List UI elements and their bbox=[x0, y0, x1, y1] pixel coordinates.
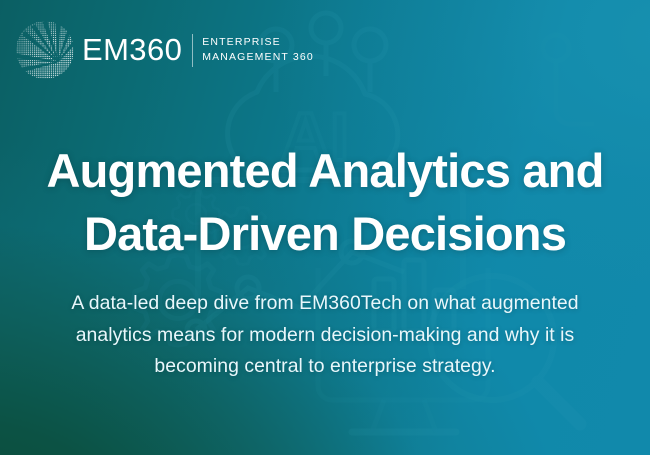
node-accent-icon bbox=[543, 35, 594, 124]
em360-logo[interactable]: EM360 ENTERPRISE MANAGEMENT 360 bbox=[13, 16, 314, 84]
promo-card: AI bbox=[0, 0, 650, 455]
logo-tagline: ENTERPRISE MANAGEMENT 360 bbox=[202, 35, 314, 65]
logo-divider bbox=[192, 34, 193, 67]
logo-tagline-line2: MANAGEMENT 360 bbox=[202, 50, 314, 65]
logo-tagline-line1: ENTERPRISE bbox=[202, 35, 314, 50]
page-title-line2: Data-Driven Decisions bbox=[14, 203, 636, 266]
em360-fan-logo-icon bbox=[13, 18, 77, 82]
page-title-line1: Augmented Analytics and bbox=[46, 144, 603, 197]
logo-wordmark: EM360 bbox=[82, 34, 182, 67]
page-subtitle: A data-led deep dive from EM360Tech on w… bbox=[47, 288, 603, 383]
page-title: Augmented Analytics and Data-Driven Deci… bbox=[0, 140, 650, 266]
